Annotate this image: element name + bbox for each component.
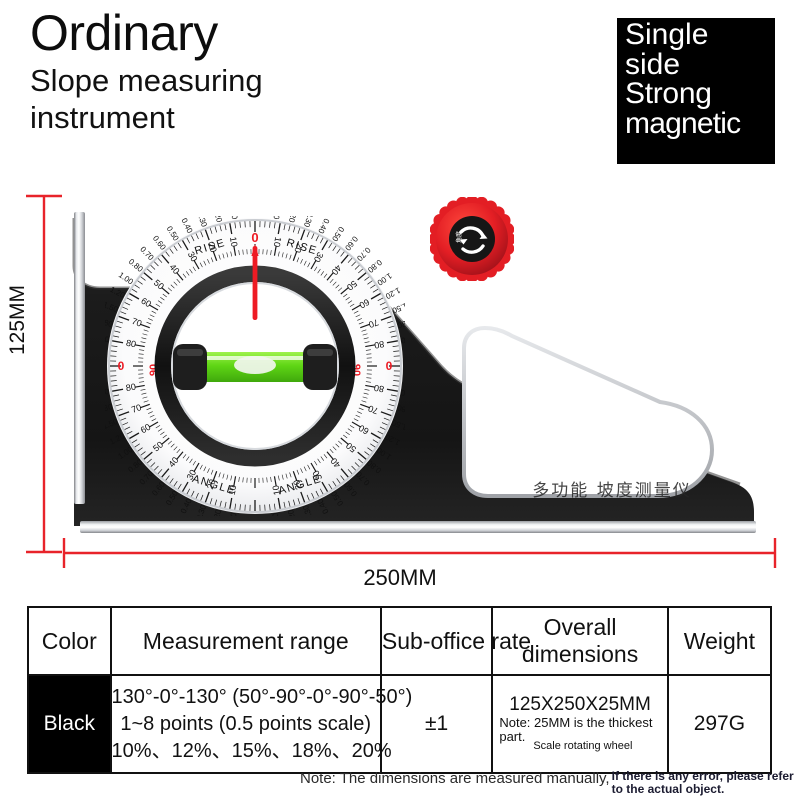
page-subtitle: Slope measuring instrument [30,63,410,136]
feature-badge: Single side Strong magnetic [617,18,775,164]
bottom-aluminium-rail [80,521,756,533]
svg-text:10: 10 [272,236,284,248]
range-line-2: 1~8 points (0.5 points scale) [112,711,380,738]
header-weight: Weight [668,607,771,675]
level-cap-left-gloss [177,349,203,356]
header-overall-dimensions-text: Overall dimensions [522,614,638,667]
overall-dimensions-value: 125X250X25MM [493,695,666,716]
level-bubble [234,356,276,374]
footer-note: Note: The dimensions are measured manual… [300,770,800,797]
scale-rotating-wheel[interactable]: 角度 [430,197,514,281]
cell-weight: 297G [668,675,771,773]
svg-text:80: 80 [373,383,385,395]
badge-line-2: side [625,50,775,80]
svg-text:80: 80 [125,338,137,350]
header-color: Color [28,607,111,675]
dial-zero-top: 0 [251,230,258,245]
cell-color-value: Black [28,675,111,773]
svg-text:10: 10 [228,236,240,248]
badge-line-3: Strong [625,79,775,109]
cell-overall-dimensions: 125X250X25MM Note: 25MM is the thickest … [492,675,667,773]
range-line-1: 130°-0°-130° (50°-90°-0°-90°-50°) [112,684,380,711]
page-title: Ordinary [30,8,590,59]
dimension-vertical [26,196,62,552]
header-sub-office-rate: Sub-office rate [381,607,492,675]
table-header-row: Color Measurement range Sub-office rate … [28,607,771,675]
handle-cutout [464,328,712,496]
overall-dimensions-note: Note: 25MM is the thickest part. [493,716,666,743]
header-sub-office-rate-text: Sub-office rate [382,628,531,655]
footer-note-part-b: If there is any error, please refer to t… [612,770,798,797]
dial-zero-left: 0 [118,359,125,373]
badge-line-1: Single [625,20,775,50]
header-measurement-range: Measurement range [111,607,381,675]
dimension-width-label: 250MM [0,565,800,591]
specification-table: Color Measurement range Sub-office rate … [27,606,772,774]
left-aluminium-rail [74,212,85,504]
dial-zero-right: 0 [386,359,393,373]
badge-line-4: magnetic [625,109,775,139]
svg-text:80: 80 [125,381,137,393]
cell-measurement-range: 130°-0°-130° (50°-90°-0°-90°-50°) 1~8 po… [111,675,381,773]
embossed-brand-text: 多功能 坡度测量仪 [532,481,691,501]
knob-chinese-label: 角度 [455,231,463,243]
protractor-dial[interactable]: 0.100.100.100.100.200.200.200.200.300.30… [105,216,405,516]
range-line-3: 10%、12%、15%、18%、20% [112,738,380,765]
page-heading: Ordinary Slope measuring instrument [30,8,590,136]
level-cap-right-gloss [307,349,333,356]
footer-note-part-a: Note: The dimensions are measured manual… [300,770,610,787]
svg-text:80: 80 [373,339,385,351]
dimension-height-label: 125MM [6,285,30,355]
table-row: Black 130°-0°-130° (50°-90°-0°-90°-50°) … [28,675,771,773]
product-image: 多功能 坡度测量仪 [60,196,760,556]
